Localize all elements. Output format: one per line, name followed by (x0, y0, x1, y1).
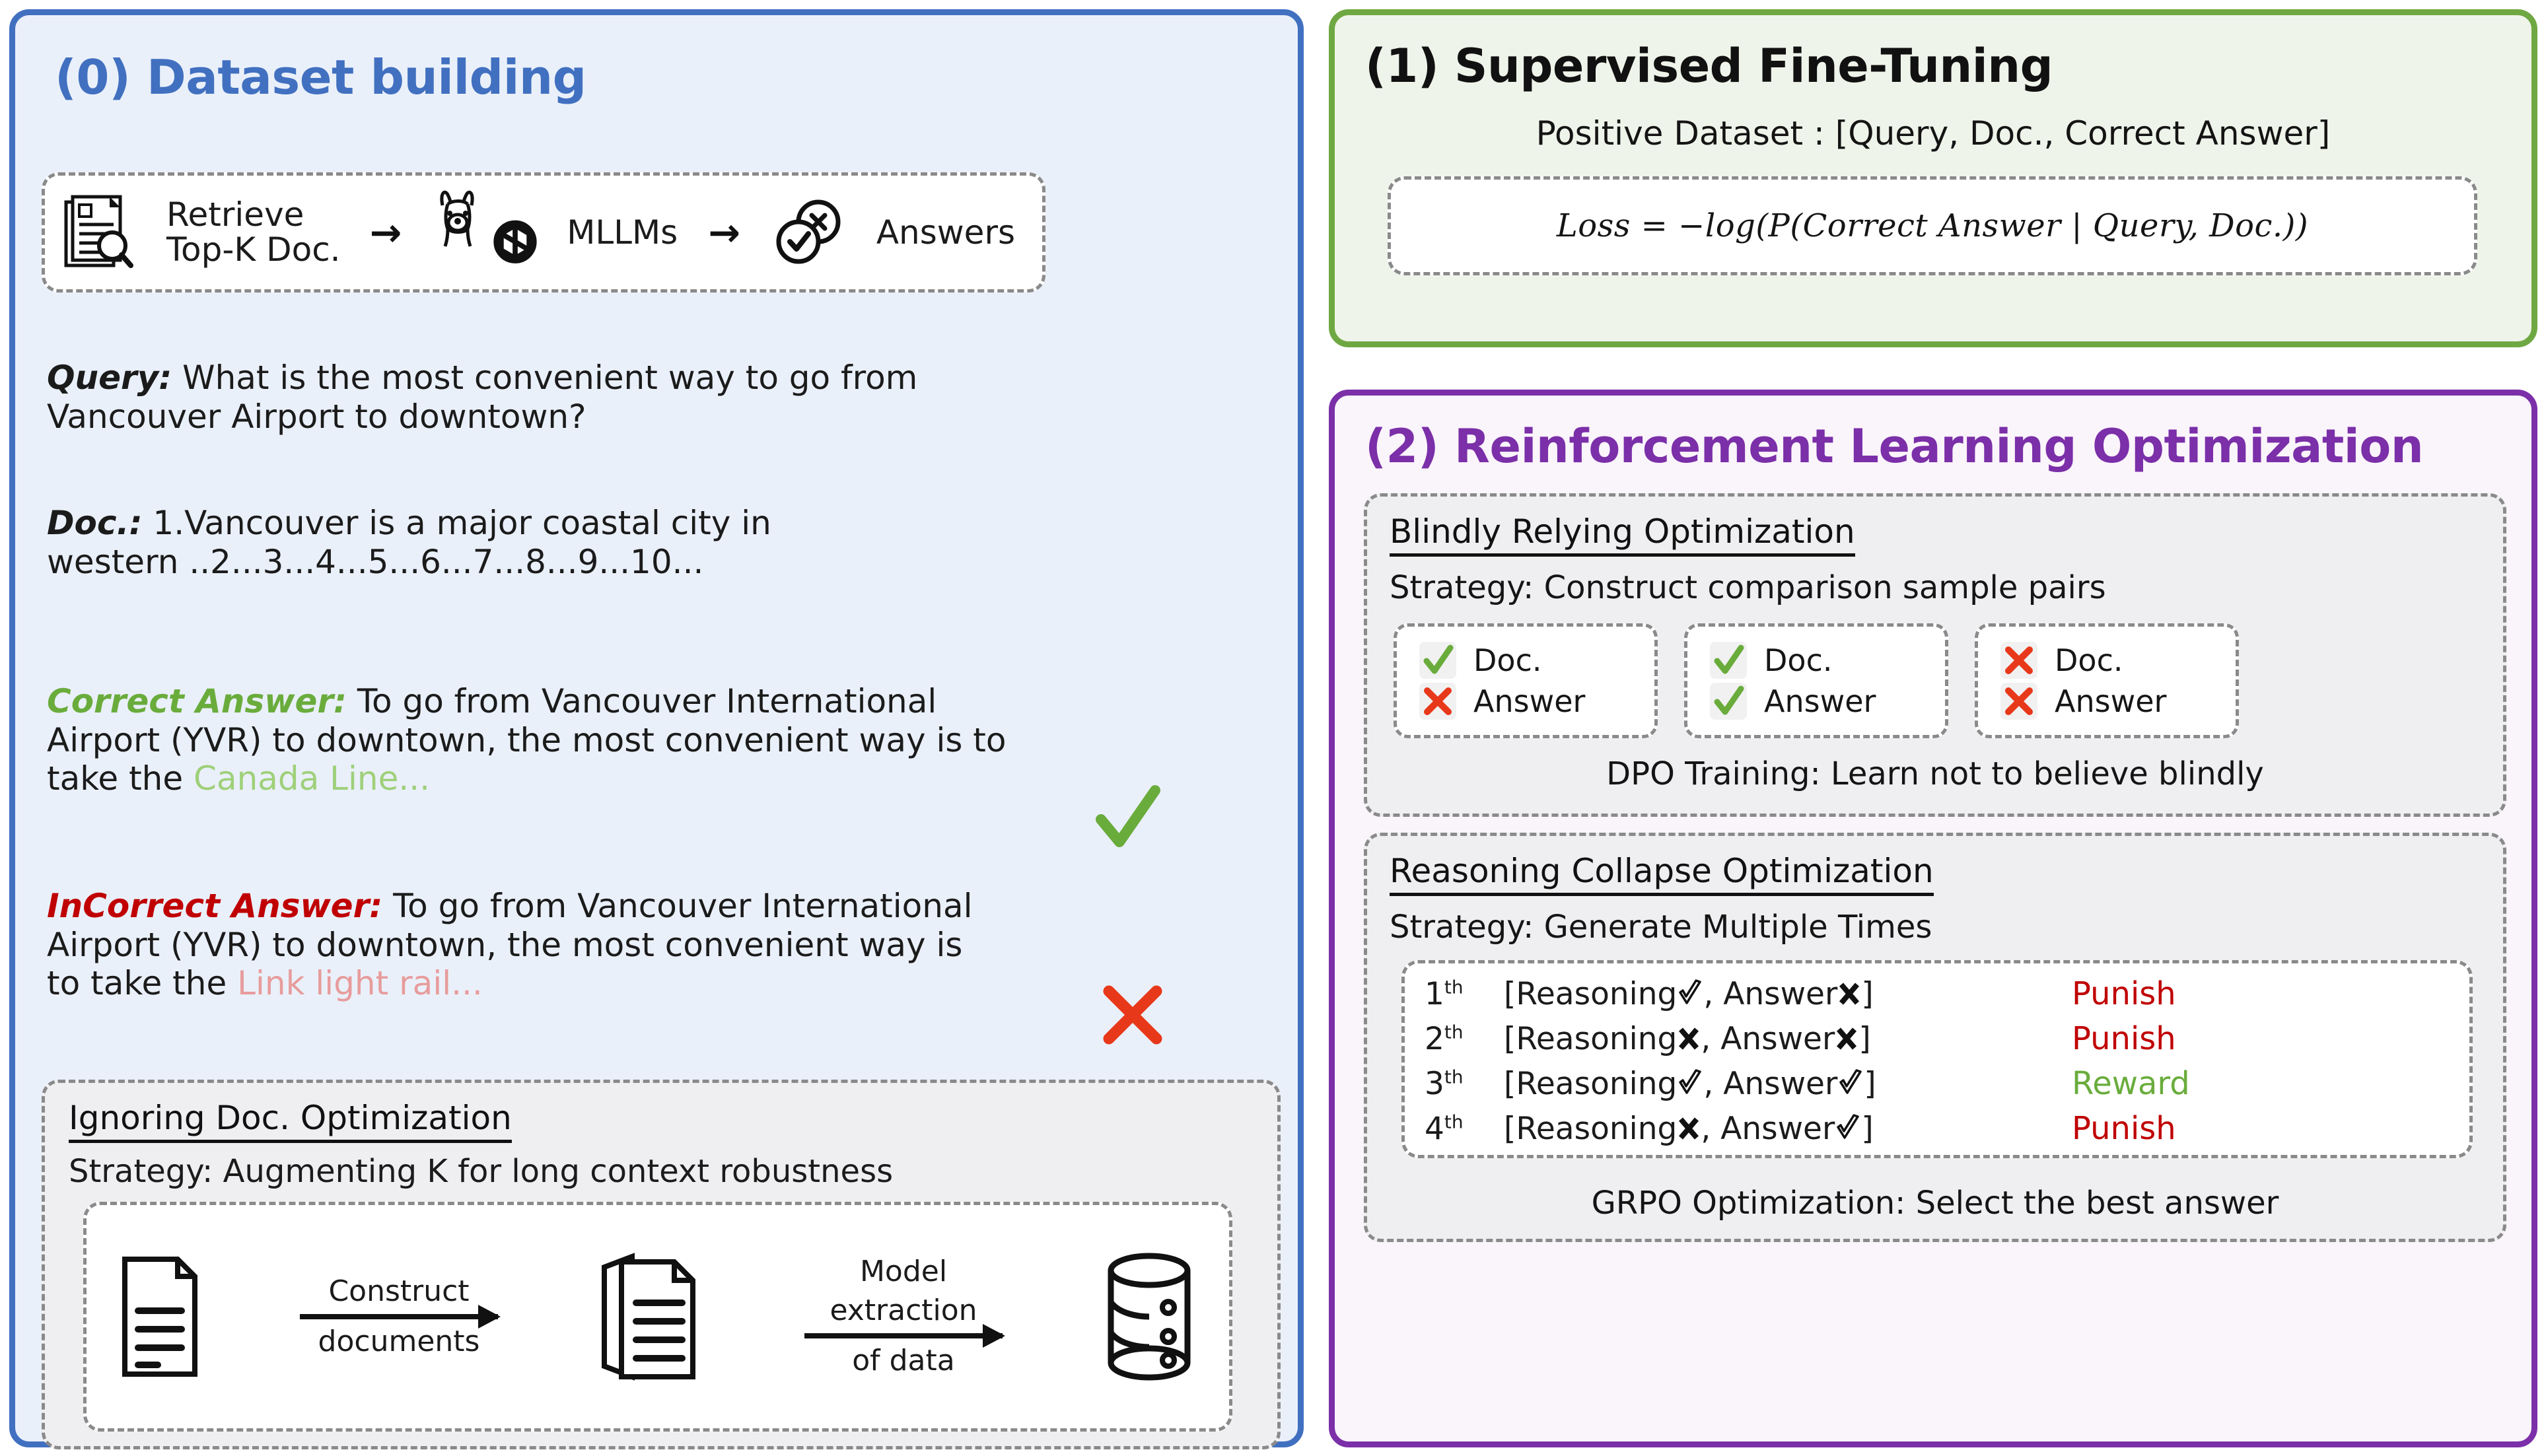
document-search-icon (62, 194, 133, 271)
correct-answer-line3-pre: take the (47, 759, 194, 798)
red-cross-icon (2000, 683, 2037, 720)
panel-supervised-fine-tuning: (1) Supervised Fine-Tuning Positive Data… (1329, 9, 2537, 347)
incorrect-answer-line2: Airport (YVR) to downtown, the most conv… (47, 926, 1249, 965)
doc-line2: western ..2...3...4...5...6...7...8...9.… (47, 543, 1236, 582)
query-block: Query: What is the most convenient way t… (47, 359, 1236, 436)
doc-line1: 1.Vancouver is a major coastal city in (142, 504, 771, 542)
reasoning-collapse-heading: Reasoning Collapse Optimization (1390, 852, 1934, 896)
construct-documents-arrow: Construct documents (300, 1276, 498, 1358)
reasoning-collapse-optimization-box: Reasoning Collapse Optimization Strategy… (1364, 833, 2506, 1242)
correct-answer-block: Correct Answer: To go from Vancouver Int… (47, 682, 1249, 798)
comparison-sample-pairs: Doc. Answer (1394, 623, 2239, 738)
panel-dataset-building: (0) Dataset building (9, 9, 1304, 1447)
positive-dataset-line: Positive Dataset : [Query, Doc., Correct… (1335, 114, 2531, 153)
attempt-ordinal: 4th (1425, 1111, 1504, 1147)
attempt-text: [Reasoning , Answer ] (1504, 1066, 2072, 1102)
cross-solid-icon (1677, 1025, 1701, 1052)
query-line2: Vancouver Airport to downtown? (47, 398, 1236, 436)
green-check-icon (1710, 642, 1747, 679)
incorrect-answer-line3-pre: to take the (47, 964, 237, 1002)
llama-icon (431, 186, 486, 249)
database-icon (1100, 1251, 1199, 1383)
green-check-icon (1419, 642, 1456, 679)
ignoring-doc-heading: Ignoring Doc. Optimization (69, 1099, 512, 1143)
attempt-row-1: 1th [Reasoning , Answer ] (1405, 971, 2469, 1016)
cross-solid-icon (1835, 1025, 1858, 1052)
generation-attempts-box: 1th [Reasoning , Answer ] (1401, 960, 2473, 1158)
correct-answer-label: Correct Answer: (47, 682, 347, 720)
panel-sft-title: (1) Supervised Fine-Tuning (1365, 39, 2053, 93)
attempt-verdict: Reward (2072, 1065, 2190, 1102)
attempt-ordinal: 1th (1425, 976, 1504, 1012)
incorrect-answer-block: InCorrect Answer: To go from Vancouver I… (47, 887, 1249, 1003)
check-outline-icon (1835, 1114, 1861, 1143)
check-outline-icon (1677, 1069, 1703, 1098)
figure-canvas: (0) Dataset building (0, 0, 2546, 1456)
attempt-row-2: 2th [Reasoning , Answer ] (1405, 1016, 2469, 1061)
cross-solid-icon (1837, 981, 1861, 1007)
incorrect-answer-highlight: Link light rail... (237, 964, 483, 1002)
doc-block: Doc.: 1.Vancouver is a major coastal cit… (47, 504, 1236, 581)
single-document-icon (117, 1254, 203, 1379)
check-outline-icon (1837, 1069, 1864, 1098)
red-cross-icon (1098, 981, 1167, 1049)
correct-answer-line1: To go from Vancouver International (347, 682, 937, 720)
blindly-relying-strategy: Strategy: Construct comparison sample pa… (1390, 569, 2106, 606)
panel-rl-optimization: (2) Reinforcement Learning Optimization … (1329, 390, 2537, 1447)
retrieval-pipeline-box: Retrieve Top-K Doc. → (42, 172, 1045, 293)
green-check-icon (1092, 781, 1164, 854)
check-outline-icon (1677, 979, 1703, 1008)
reasoning-collapse-strategy: Strategy: Generate Multiple Times (1390, 909, 1932, 946)
retrieve-label: Retrieve Top-K Doc. (166, 197, 341, 267)
construct-label-top: Construct (328, 1276, 469, 1307)
attempt-verdict: Punish (2072, 975, 2176, 1012)
extraction-label-bottom: of data (852, 1345, 955, 1377)
correct-answer-highlight: Canada Line... (194, 759, 430, 798)
card-answer-label: Answer (2055, 683, 2166, 719)
data-construction-flow-box: Construct documents (83, 1202, 1232, 1432)
sample-pair-card-3[interactable]: Doc. Answer (1975, 623, 2239, 738)
loss-formula: Loss = −log(P(Correct Answer | Query, Do… (1391, 180, 2474, 272)
red-cross-icon (2000, 642, 2037, 679)
card-doc-label: Doc. (1764, 642, 1832, 678)
attempt-row-3: 3th [Reasoning , Answer ] (1405, 1061, 2469, 1106)
construct-label-bottom: documents (318, 1326, 480, 1358)
model-extraction-arrow: Model extraction of data (804, 1256, 1003, 1377)
panel-rl-title: (2) Reinforcement Learning Optimization (1365, 419, 2423, 473)
card-doc-label: Doc. (1473, 642, 1541, 678)
blindly-relying-optimization-box: Blindly Relying Optimization Strategy: C… (1364, 493, 2506, 817)
incorrect-answer-label: InCorrect Answer: (47, 887, 382, 925)
cross-solid-icon (1677, 1115, 1701, 1142)
attempt-verdict: Punish (2072, 1110, 2176, 1147)
query-label: Query: (47, 359, 172, 397)
incorrect-answer-line1: To go from Vancouver International (382, 887, 972, 925)
card-answer-label: Answer (1473, 683, 1585, 719)
grpo-optimization-footer: GRPO Optimization: Select the best answe… (1367, 1185, 2503, 1222)
attempt-verdict: Punish (2072, 1020, 2176, 1057)
doc-label: Doc.: (47, 504, 142, 542)
answers-label: Answers (876, 213, 1015, 252)
green-check-icon (1710, 683, 1747, 720)
loss-formula-box: Loss = −log(P(Correct Answer | Query, Do… (1388, 176, 2477, 275)
card-doc-label: Doc. (2055, 642, 2123, 678)
attempt-ordinal: 3th (1425, 1066, 1504, 1102)
dpo-training-footer: DPO Training: Learn not to believe blind… (1367, 755, 2503, 792)
attempt-text: [Reasoning , Answer ] (1504, 976, 2072, 1012)
correct-answer-line2: Airport (YVR) to downtown, the most conv… (47, 721, 1249, 760)
ignoring-doc-strategy: Strategy: Augmenting K for long context … (69, 1153, 893, 1190)
attempt-text: [Reasoning , Answer ] (1504, 1111, 2072, 1147)
extraction-label-top: Model (860, 1256, 947, 1288)
attempt-ordinal: 2th (1425, 1021, 1504, 1057)
panel-dataset-title: (0) Dataset building (55, 50, 586, 105)
ignoring-doc-optimization-box: Ignoring Doc. Optimization Strategy: Aug… (42, 1080, 1281, 1449)
red-cross-icon (1419, 683, 1456, 720)
stacked-documents-icon (595, 1247, 707, 1386)
blindly-relying-heading: Blindly Relying Optimization (1390, 512, 1855, 557)
mllms-label: MLLMs (567, 213, 678, 252)
card-answer-label: Answer (1764, 683, 1876, 719)
query-line1: What is the most convenient way to go fr… (172, 359, 917, 397)
openai-logo-icon (483, 214, 547, 277)
check-cross-circles-icon (771, 195, 845, 269)
attempt-text: [Reasoning , Answer ] (1504, 1021, 2072, 1057)
attempt-row-4: 4th [Reasoning , Answer ] (1405, 1106, 2469, 1151)
sample-pair-card-1[interactable]: Doc. Answer (1394, 623, 1658, 738)
pipeline-arrow-2: → (708, 213, 740, 252)
pipeline-arrow-1: → (370, 213, 402, 252)
sample-pair-card-2[interactable]: Doc. Answer (1684, 623, 1948, 738)
extraction-label-mid: extraction (830, 1295, 977, 1327)
